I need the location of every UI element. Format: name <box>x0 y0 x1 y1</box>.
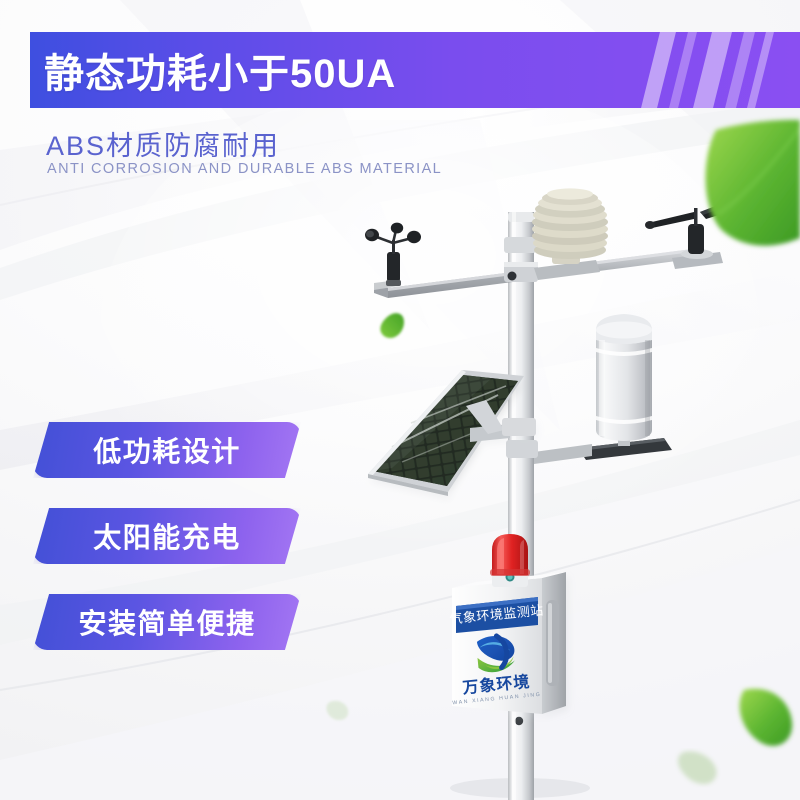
feature-pill-3[interactable]: 安装简单便捷 <box>33 594 301 650</box>
leaf-top-right <box>706 120 800 246</box>
feature-pill-1-label: 低功耗设计 <box>33 430 301 470</box>
feature-pill-3-label: 安装简单便捷 <box>33 602 301 642</box>
feature-pill-1[interactable]: 低功耗设计 <box>33 422 301 478</box>
feature-pill-2-label: 太阳能充电 <box>33 516 301 556</box>
decorative-leaves <box>0 0 800 800</box>
leaf-bottom-right-2 <box>678 751 717 784</box>
leaf-mid-left <box>380 313 404 338</box>
leaf-bottom-mid <box>326 701 348 720</box>
feature-pill-2[interactable]: 太阳能充电 <box>33 508 301 564</box>
poster-canvas: 静态功耗小于50UA ABS材质防腐耐用 ANTI CORROSION AND … <box>0 0 800 800</box>
leaf-bottom-right-1 <box>740 689 793 746</box>
